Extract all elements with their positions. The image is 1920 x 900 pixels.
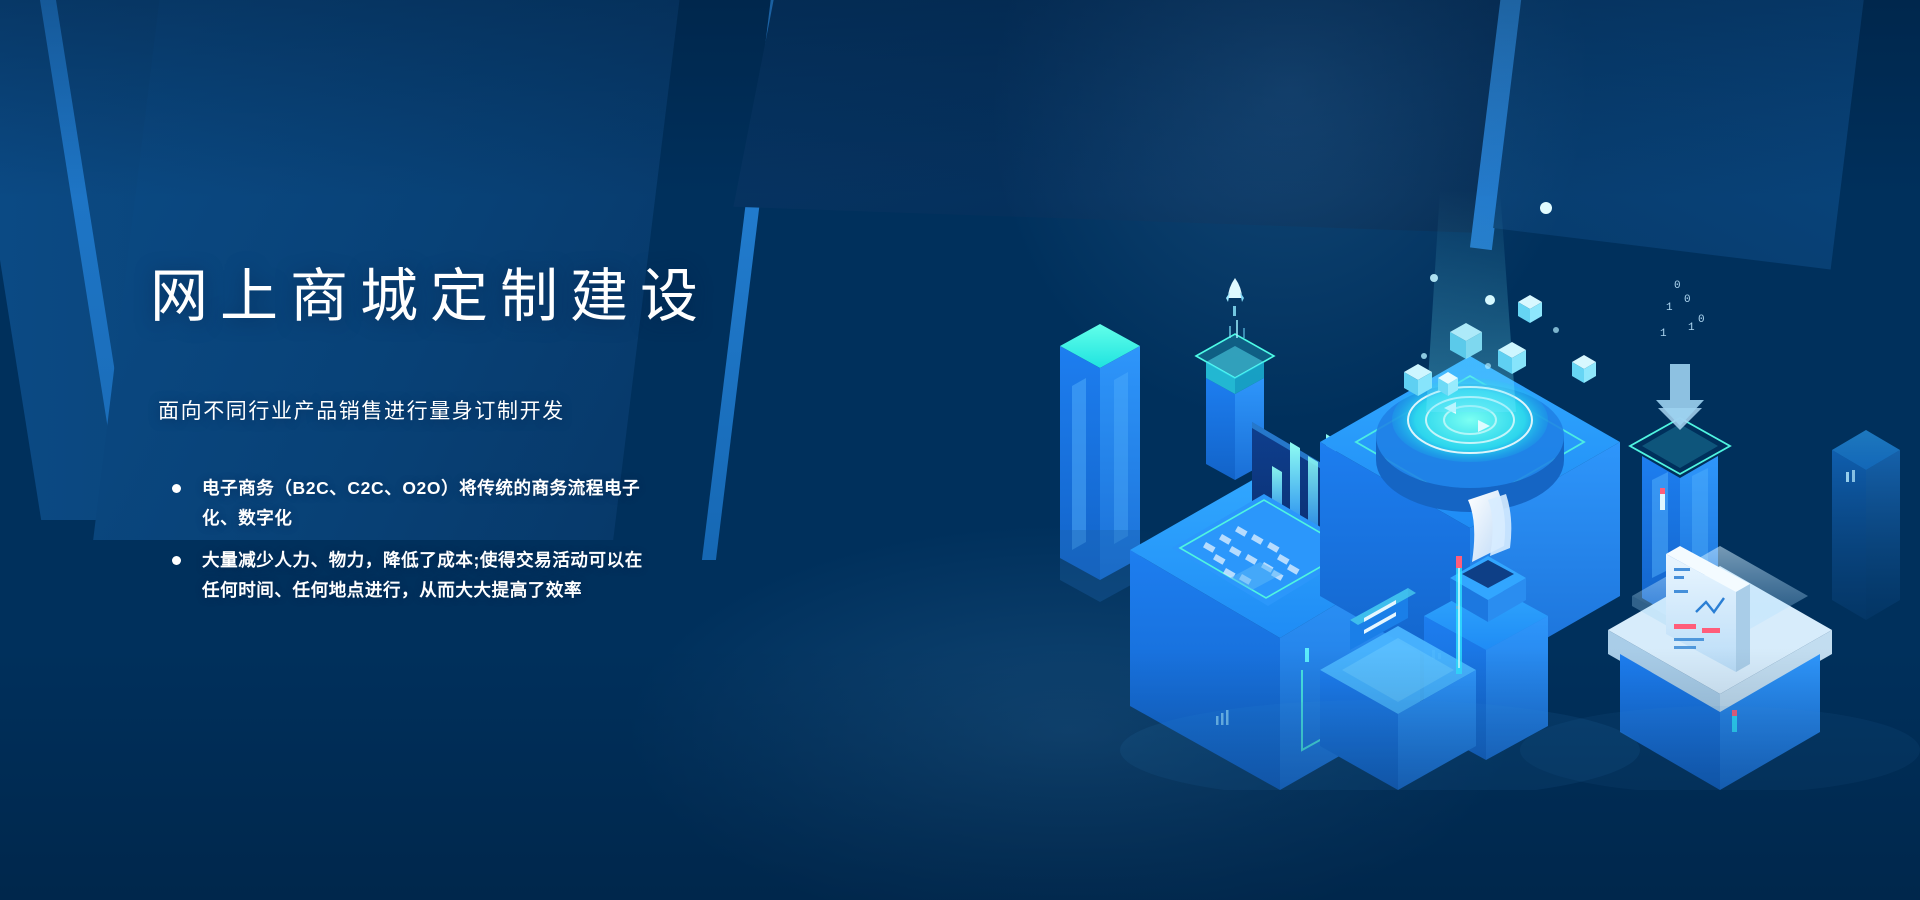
svg-text:0: 0 [1674,280,1681,292]
svg-text:1: 1 [1660,328,1667,340]
svg-text:0: 0 [1698,314,1705,326]
bullet-dot-icon [172,484,181,493]
glowing-pillar [1060,324,1140,602]
list-item: 大量减少人力、物力，降低了成本;使得交易活动可以在任何时间、任何地点进行，从而大… [172,545,654,605]
hero-content: 网上商城定制建设 面向不同行业产品销售进行量身订制开发 电子商务（B2C、C2C… [150,225,790,621]
page-title: 网上商城定制建设 [150,264,790,331]
list-item-text: 大量减少人力、物力，降低了成本;使得交易活动可以在任何时间、任何地点进行，从而大… [202,550,643,600]
svg-text:1: 1 [1688,322,1695,334]
page-subtitle: 面向不同行业产品销售进行量身订制开发 [158,395,790,425]
antenna-pillar [1456,556,1462,674]
svg-text:1: 1 [1666,302,1673,314]
list-item: 电子商务（B2C、C2C、O2O）将传统的商务流程电子化、数字化 [172,473,654,533]
floating-cubes [1404,190,1596,412]
feature-list: 电子商务（B2C、C2C、O2O）将传统的商务流程电子化、数字化 大量减少人力、… [172,473,790,605]
list-item-text: 电子商务（B2C、C2C、O2O）将传统的商务流程电子化、数字化 [202,478,640,528]
bullet-dot-icon [172,556,181,565]
svg-text:0: 0 [1684,294,1691,306]
isometric-illustration: 10 11 00 [1020,150,1920,790]
right-pillar [1832,430,1900,620]
hero-banner: 网上商城定制建设 面向不同行业产品销售进行量身订制开发 电子商务（B2C、C2C… [0,0,1920,900]
